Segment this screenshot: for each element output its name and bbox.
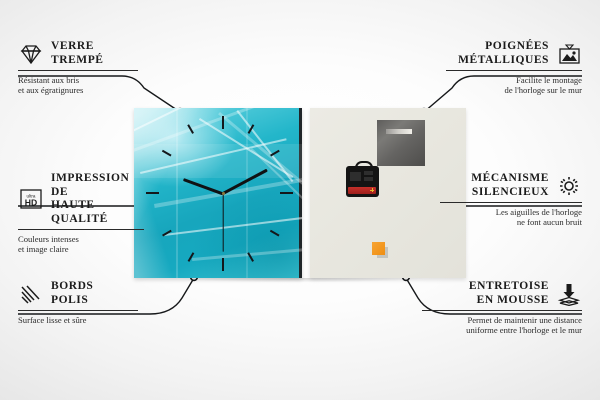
- metal-hanger-plate: [377, 120, 425, 166]
- feature-mecanisme-silencieux: MÉCANISME SILENCIEUX Les aiguilles de l'…: [440, 172, 582, 227]
- feature-entretoise-en-mousse: ENTRETOISE EN MOUSSE Permet de maintenir…: [422, 280, 582, 335]
- feature-description: Surface lisse et sûre: [18, 315, 138, 325]
- feature-description: Facilite le montage de l'horloge sur le …: [446, 75, 582, 96]
- feature-heading: POIGNÉES MÉTALLIQUES: [446, 40, 582, 67]
- hanger-slot: [386, 129, 412, 134]
- feature-rule: [18, 310, 138, 311]
- clock-tick: [146, 192, 159, 194]
- clock-center-pin: [222, 192, 225, 195]
- infographic-stage: VERRE TREMPÉ Résistant aux bris et aux é…: [0, 0, 600, 400]
- feature-heading: MÉCANISME SILENCIEUX: [440, 172, 582, 199]
- foam-spacer: [372, 242, 385, 255]
- feature-title: POIGNÉES MÉTALLIQUES: [458, 40, 549, 67]
- quartz-movement: [346, 166, 379, 197]
- hanger-loop: [355, 161, 373, 170]
- feature-rule: [440, 202, 582, 203]
- clock-front-panel: [134, 108, 302, 278]
- feature-rule: [18, 229, 144, 230]
- feature-poignees-metalliques: POIGNÉES MÉTALLIQUES Facilite le montage…: [446, 40, 582, 95]
- feature-description: Permet de maintenir une distance uniform…: [422, 315, 582, 336]
- battery-plus: [370, 188, 374, 192]
- clock-hour-hand: [183, 178, 224, 196]
- feature-rule: [422, 310, 582, 311]
- feature-bords-polis: BORDS POLIS Surface lisse et sûre: [18, 280, 138, 325]
- product-shadow: [136, 278, 466, 284]
- polished-edges-icon: [18, 282, 44, 306]
- diamond-icon: [18, 42, 44, 66]
- clock-tick: [270, 230, 279, 236]
- product-image: [134, 108, 466, 280]
- feature-title: BORDS POLIS: [51, 280, 93, 307]
- feature-impression-haute-qualite: ultra HD IMPRESSION DE HAUTE QUALITÉ Cou…: [18, 172, 144, 254]
- feature-rule: [446, 70, 582, 71]
- ultra-hd-icon: ultra HD: [18, 187, 44, 211]
- clock-tick: [222, 116, 224, 129]
- feature-heading: ultra HD IMPRESSION DE HAUTE QUALITÉ: [18, 172, 144, 226]
- feature-rule: [18, 70, 138, 71]
- feature-title: MÉCANISME SILENCIEUX: [471, 172, 549, 199]
- gear-icon: [556, 174, 582, 198]
- feature-heading: VERRE TREMPÉ: [18, 40, 138, 67]
- feature-title: VERRE TREMPÉ: [51, 40, 104, 67]
- battery: [348, 187, 376, 194]
- wall-hanger-icon: [556, 42, 582, 66]
- feature-title: ENTRETOISE EN MOUSSE: [469, 280, 549, 307]
- feature-description: Résistant aux bris et aux égratignures: [18, 75, 138, 96]
- feature-title: IMPRESSION DE HAUTE QUALITÉ: [51, 172, 144, 226]
- feature-description: Les aiguilles de l'horloge ne font aucun…: [440, 207, 582, 228]
- clock-second-hand: [222, 193, 223, 251]
- feature-heading: ENTRETOISE EN MOUSSE: [422, 280, 582, 307]
- feature-description: Couleurs intenses et image claire: [18, 234, 144, 255]
- clock-tick: [280, 192, 293, 194]
- feature-heading: BORDS POLIS: [18, 280, 138, 307]
- foam-spacer-icon: [556, 282, 582, 306]
- ultra-hd-icon-bottom: HD: [25, 198, 37, 208]
- feature-verre-trempe: VERRE TREMPÉ Résistant aux bris et aux é…: [18, 40, 138, 95]
- clock-tick: [222, 258, 224, 271]
